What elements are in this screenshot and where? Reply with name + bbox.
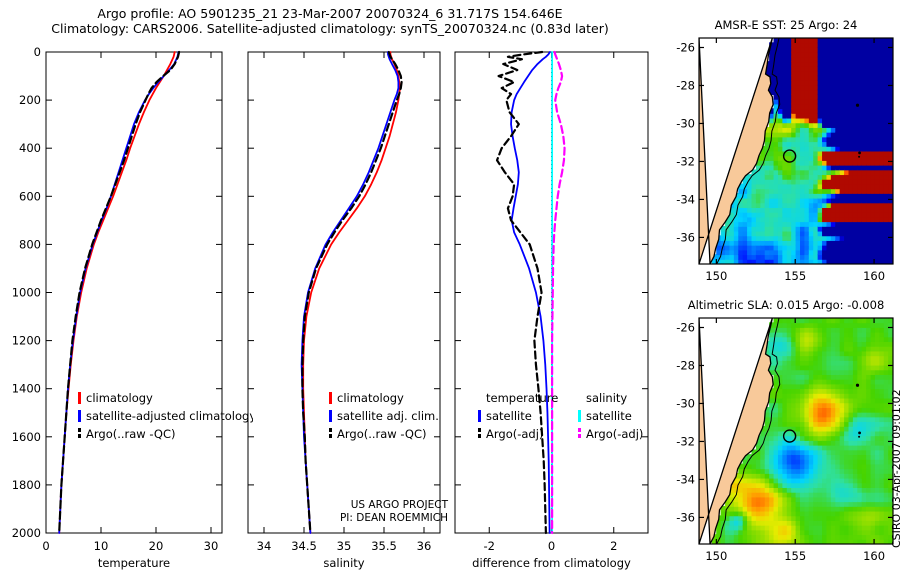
legend-label: temperature — [486, 391, 558, 405]
legend-label: Argo(-adj) — [586, 427, 643, 441]
svg-text:10: 10 — [94, 539, 109, 553]
legend-item: satellite adj. clim. — [329, 407, 459, 425]
svg-text:-28: -28 — [676, 78, 695, 92]
legend-label: Argo(-adj) — [486, 427, 543, 441]
svg-text:35: 35 — [337, 539, 352, 553]
svg-text:160: 160 — [863, 269, 885, 283]
legend-item: satellite-adjusted climatology — [78, 407, 253, 425]
svg-text:35.5: 35.5 — [371, 539, 397, 553]
svg-text:-2: -2 — [484, 539, 495, 553]
legend-temperature: climatology satellite-adjusted climatolo… — [78, 389, 253, 443]
svg-text:1000: 1000 — [12, 286, 41, 300]
legend-swatch — [78, 410, 81, 422]
legend-label: satellite adj. clim. — [337, 409, 439, 423]
legend-difference-temperature: temperature satellite Argo(-adj) — [478, 389, 558, 443]
legend-label: satellite-adjusted climatology — [86, 409, 253, 423]
panel-salinity: 3434.53535.536salinity — [248, 52, 440, 570]
legend-label: satellite — [586, 409, 632, 423]
csiro-timestamp: CSIRO 03-Apr-2007 09:01:02 — [890, 389, 900, 548]
legend-swatch — [578, 392, 581, 404]
svg-text:0: 0 — [548, 539, 555, 553]
legend-item: Argo(..raw -QC) — [78, 425, 253, 443]
svg-text:-28: -28 — [676, 358, 695, 372]
svg-text:20: 20 — [149, 539, 164, 553]
legend-item: Argo(-adj) — [578, 425, 658, 443]
svg-text:800: 800 — [19, 237, 41, 251]
legend-swatch — [478, 410, 481, 422]
svg-text:0: 0 — [42, 539, 49, 553]
legend-item: Argo(..raw -QC) — [329, 425, 459, 443]
svg-text:2: 2 — [610, 539, 617, 553]
legend-swatch — [578, 428, 581, 440]
legend-item: temperature — [478, 389, 558, 407]
svg-text:1200: 1200 — [12, 334, 41, 348]
svg-text:-36: -36 — [676, 230, 695, 244]
svg-text:30: 30 — [204, 539, 219, 553]
legend-item: salinity — [578, 389, 658, 407]
panel-difference: -202difference from climatology — [455, 52, 648, 570]
legend-swatch — [329, 428, 332, 440]
panel-temperature: 0200400600800100012001400160018002000010… — [12, 45, 222, 570]
legend-swatch — [478, 428, 481, 440]
svg-text:200: 200 — [19, 93, 41, 107]
svg-text:-36: -36 — [676, 510, 695, 524]
project-credit: US ARGO PROJECT PI: DEAN ROEMMICH — [318, 499, 448, 525]
sst-map: 150155160-26-28-30-32-34-36 — [655, 32, 900, 294]
legend-item: Argo(-adj) — [478, 425, 558, 443]
legend-item: climatology — [329, 389, 459, 407]
legend-salinity: climatology satellite adj. clim. Argo(..… — [329, 389, 459, 443]
svg-text:-30: -30 — [676, 116, 695, 130]
credit-line-2: PI: DEAN ROEMMICH — [318, 512, 448, 525]
svg-text:34.5: 34.5 — [291, 539, 317, 553]
legend-swatch — [78, 392, 81, 404]
svg-text:400: 400 — [19, 141, 41, 155]
legend-swatch — [578, 410, 581, 422]
sla-map-title: Altimetric SLA: 0.015 Argo: -0.008 — [666, 298, 900, 312]
legend-item: climatology — [78, 389, 253, 407]
svg-text:-34: -34 — [676, 472, 695, 486]
legend-label: Argo(..raw -QC) — [337, 427, 427, 441]
profile-panels: 0200400600800100012001400160018002000010… — [0, 0, 660, 580]
svg-text:34: 34 — [257, 539, 272, 553]
svg-text:0: 0 — [34, 45, 41, 59]
svg-text:temperature: temperature — [98, 556, 170, 570]
svg-text:600: 600 — [19, 189, 41, 203]
svg-text:160: 160 — [863, 549, 885, 563]
svg-text:salinity: salinity — [323, 556, 364, 570]
svg-text:-32: -32 — [676, 154, 695, 168]
legend-swatch — [329, 392, 332, 404]
legend-swatch — [478, 392, 481, 404]
svg-text:155: 155 — [784, 269, 806, 283]
svg-text:155: 155 — [784, 549, 806, 563]
svg-text:-32: -32 — [676, 434, 695, 448]
svg-text:150: 150 — [705, 549, 727, 563]
svg-text:1800: 1800 — [12, 478, 41, 492]
sla-map: 150155160-26-28-30-32-34-36 — [655, 312, 900, 574]
svg-text:1400: 1400 — [12, 382, 41, 396]
svg-text:-34: -34 — [676, 192, 695, 206]
svg-text:-26: -26 — [676, 40, 695, 54]
legend-label: salinity — [586, 391, 627, 405]
credit-line-1: US ARGO PROJECT — [318, 499, 448, 512]
svg-text:2000: 2000 — [12, 526, 41, 540]
svg-text:150: 150 — [705, 269, 727, 283]
sst-map-title: AMSR-E SST: 25 Argo: 24 — [666, 18, 900, 32]
svg-text:36: 36 — [417, 539, 432, 553]
legend-swatch — [329, 410, 332, 422]
legend-label: Argo(..raw -QC) — [86, 427, 176, 441]
legend-label: climatology — [337, 391, 404, 405]
svg-text:-26: -26 — [676, 320, 695, 334]
argo-profile-figure: Argo profile: AO 5901235_21 23-Mar-2007 … — [0, 0, 900, 580]
legend-label: climatology — [86, 391, 153, 405]
svg-text:1600: 1600 — [12, 430, 41, 444]
legend-swatch — [78, 428, 81, 440]
legend-item: satellite — [578, 407, 658, 425]
svg-text:difference from climatology: difference from climatology — [472, 556, 631, 570]
legend-label: satellite — [486, 409, 532, 423]
svg-text:-30: -30 — [676, 396, 695, 410]
legend-difference-salinity: salinity satellite Argo(-adj) — [578, 389, 658, 443]
legend-item: satellite — [478, 407, 558, 425]
